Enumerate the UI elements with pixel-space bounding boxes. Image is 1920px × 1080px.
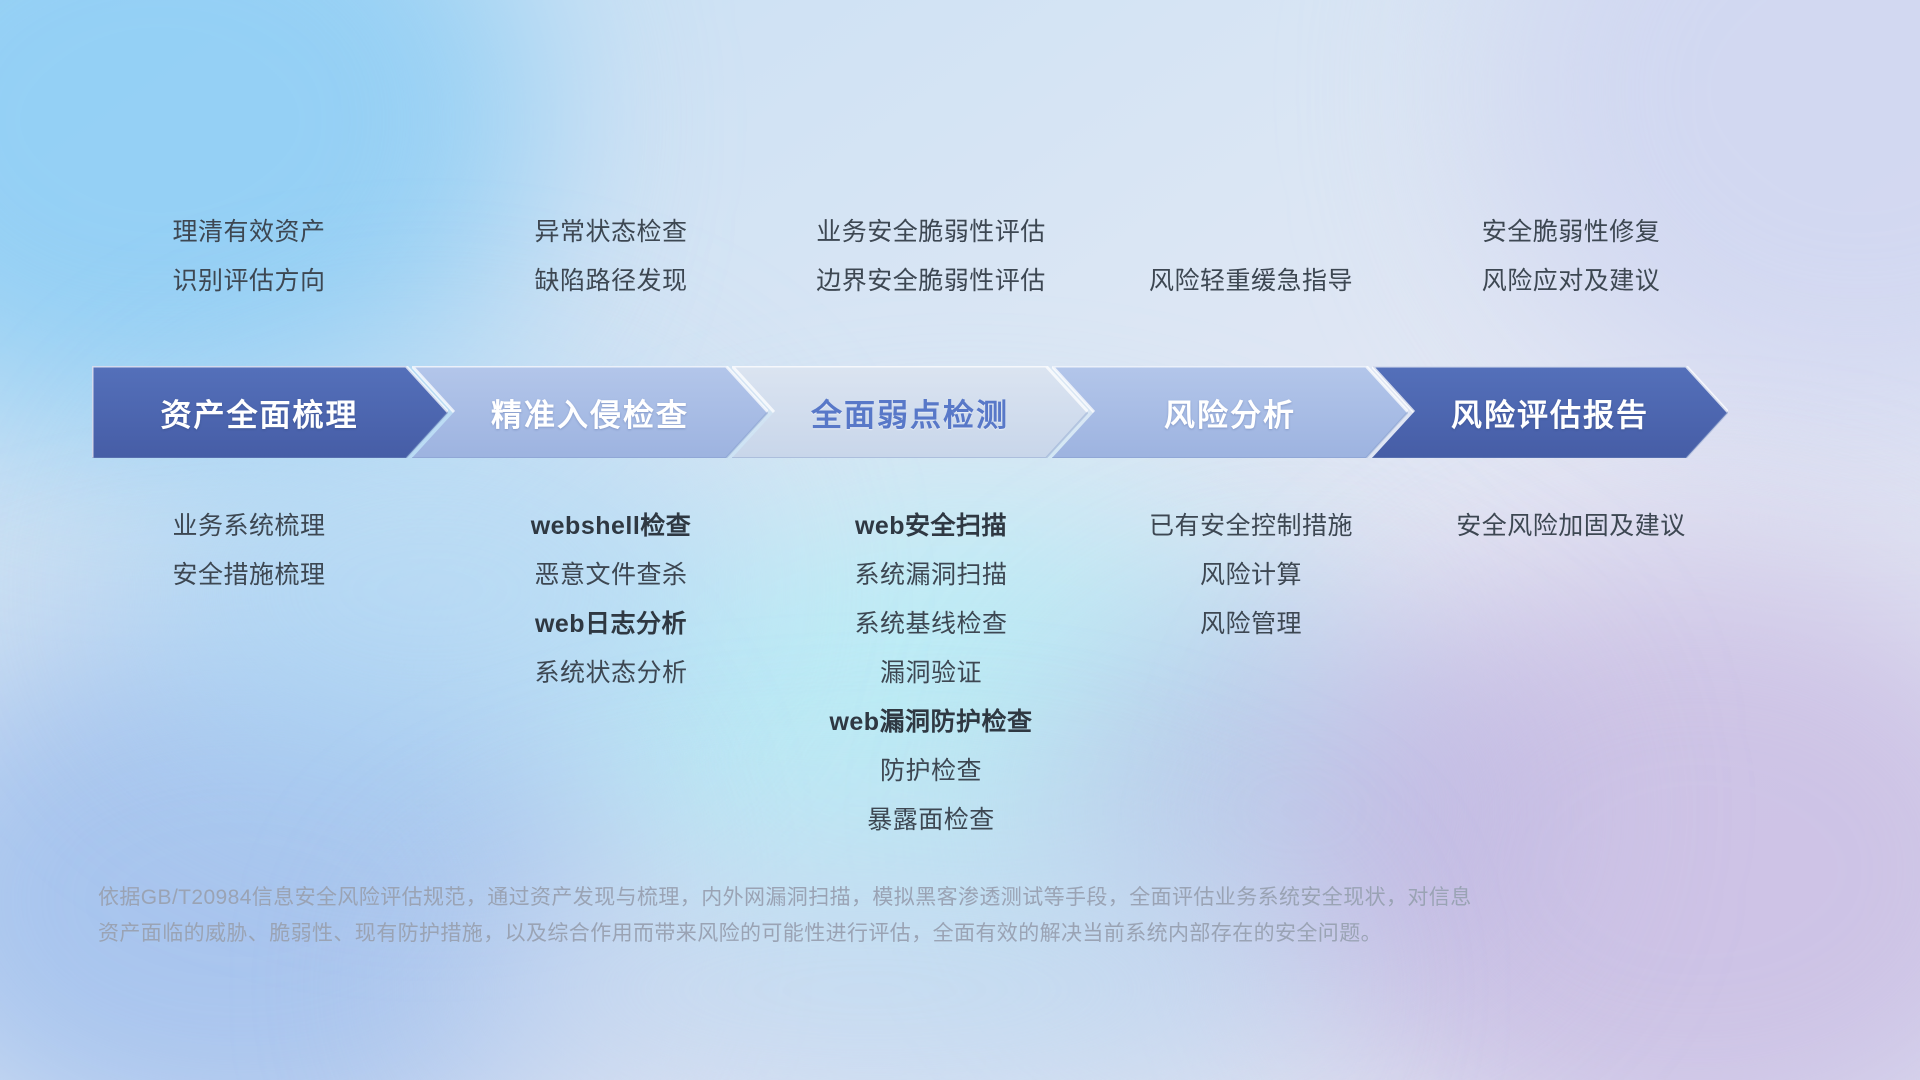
footer-line-2: 资产面临的威胁、脆弱性、现有防护措施，以及综合作用而带来风险的可能性进行评估，全… bbox=[98, 916, 1618, 952]
footer-line-1: 依据GB/T20984信息安全风险评估规范，通过资产发现与梳理，内外网漏洞扫描，… bbox=[98, 880, 1618, 916]
chevron-label-stage-1: 资产全面梳理 bbox=[161, 390, 359, 435]
chevron-stage-5[interactable]: 风险评估报告 bbox=[1372, 366, 1728, 458]
chevron-label-stage-2: 精准入侵检查 bbox=[491, 390, 689, 435]
stage-top-labels-5: 安全脆弱性修复风险应对及建议 bbox=[1373, 208, 1769, 306]
chevron-label-stage-4: 风险分析 bbox=[1164, 390, 1296, 435]
chevron-label-stage-3: 全面弱点检测 bbox=[811, 390, 1009, 435]
chevron-band: 资产全面梳理 精准入侵检查 全面弱点检测 风险分析 风险评估报告 bbox=[92, 366, 1854, 458]
chevron-stage-3[interactable]: 全面弱点检测 bbox=[732, 366, 1088, 458]
stage-bottom-labels-5: 安全风险加固及建议 bbox=[1373, 502, 1769, 551]
chevron-stage-2[interactable]: 精准入侵检查 bbox=[412, 366, 768, 458]
chevron-stage-4[interactable]: 风险分析 bbox=[1052, 366, 1408, 458]
stage-bottom-label: 安全措施梳理 bbox=[51, 551, 447, 600]
stage-bottom-label: 安全风险加固及建议 bbox=[1373, 502, 1769, 551]
stage-top-label: 理清有效资产 bbox=[51, 208, 447, 257]
stage-top-labels-1: 理清有效资产识别评估方向 bbox=[51, 208, 447, 306]
chevron-label-stage-5: 风险评估报告 bbox=[1451, 390, 1649, 435]
stage-top-label: 安全脆弱性修复 bbox=[1373, 208, 1769, 257]
stage-bottom-labels-1: 业务系统梳理安全措施梳理 bbox=[51, 502, 447, 600]
chevron-stage-1[interactable]: 资产全面梳理 bbox=[92, 366, 448, 458]
stage-bottom-label: 业务系统梳理 bbox=[51, 502, 447, 551]
stage-top-label: 识别评估方向 bbox=[51, 257, 447, 306]
footer-description: 依据GB/T20984信息安全风险评估规范，通过资产发现与梳理，内外网漏洞扫描，… bbox=[98, 880, 1618, 952]
stage-top-label: 风险应对及建议 bbox=[1373, 257, 1769, 306]
